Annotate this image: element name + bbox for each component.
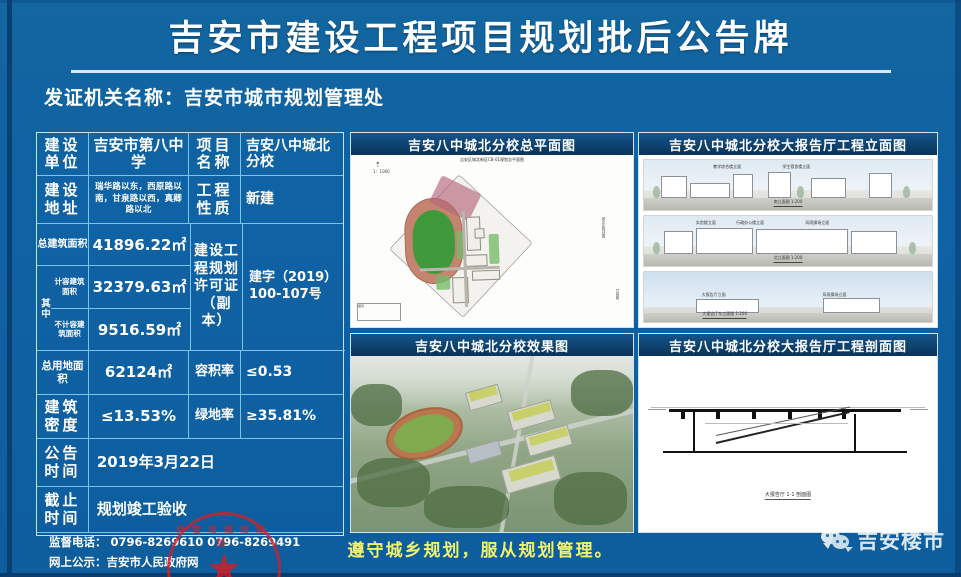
total-area-value: 41896.22㎡ [89, 224, 190, 265]
elevation-caption: 南立面图 1:200 [774, 199, 803, 207]
total-area-row: 总建筑面积 41896.22㎡ [37, 224, 190, 266]
table-row: 建设地址 瑞华路以东，西原路以南，甘泉路以西，真卿路以北 工程性质 新建 [37, 176, 343, 224]
row-label: 截止时间 [37, 487, 89, 532]
tree-icon [909, 242, 916, 254]
road-label-bottom: 甘泉路 [616, 289, 621, 300]
elevation-tag: 风雨操场立面 [805, 220, 829, 226]
announcement-board: 吉安市建设工程项目规划批后公告牌 发证机关名称：吉安市城市规划管理处 建设单位 … [0, 0, 961, 577]
row-label: 建设地址 [37, 176, 89, 223]
sub-area-value: 32379.63㎡ [89, 266, 190, 309]
row-value: 吉安市第八中学 [89, 133, 189, 175]
ceiling-profile [705, 423, 848, 424]
building-volume [690, 183, 730, 198]
panel-title: 吉安八中城北分校大报告厅工程立面图 [639, 133, 937, 155]
sub-area-label: 计容建筑面积 [51, 266, 88, 309]
qizhong-group: 其中 计容建筑面积 不计容建筑面积 [37, 266, 89, 350]
tree-cluster [554, 472, 627, 525]
panel-title: 吉安八中城北分校总平面图 [351, 133, 633, 155]
panel-body: 大报告厅 1-1 剖面图 [639, 356, 937, 532]
row-label: 公告时间 [37, 439, 89, 486]
table-row: 截止时间 规划竣工验收 [37, 487, 343, 533]
row-label-second: 项目名称 [189, 133, 241, 175]
panel-elevation[interactable]: 吉安八中城北分校大报告厅工程立面图 [638, 132, 938, 328]
green-area [436, 275, 450, 289]
permit-cell: 建设工程规划许可证（副本） 建字（2019）100-107号 [191, 224, 345, 350]
tree-icon [653, 242, 660, 254]
elevation-tag: 实验楼立面 [696, 220, 716, 226]
section-drawing: 大报告厅 1-1 剖面图 [639, 356, 937, 532]
tree-icon [653, 186, 660, 198]
elevation-drawing-north: 实验楼立面 行政办公楼立面 风雨操场立面 北立面图 1:200 [643, 215, 933, 267]
qizhong-sub-labels: 计容建筑面积 不计容建筑面积 [51, 266, 88, 350]
board-header: 吉安市建设工程项目规划批后公告牌 发证机关名称：吉安市城市规划管理处 [0, 16, 961, 110]
panel-title: 吉安八中城北分校大报告厅工程剖面图 [639, 334, 937, 356]
dimension-left [648, 409, 666, 410]
panel-body: 教学综合楼立面 学生宿舍楼立面 南立面图 1:200 [639, 155, 937, 327]
gymnasium-volume [465, 440, 502, 465]
page-title: 吉安市建设工程项目规划批后公告牌 [0, 16, 961, 62]
row-label-second: 工程性质 [189, 176, 241, 223]
panel-body: 吉安区城北新区CB-01规划总平面图 ⇡ 1：1000 [351, 155, 633, 327]
row-value: ≤13.53% [89, 395, 189, 438]
building-volume [823, 298, 881, 313]
seating-rake [716, 411, 850, 444]
sports-field [412, 209, 456, 274]
panel-body [351, 356, 633, 532]
tree-cluster [571, 370, 633, 416]
floor-line [663, 451, 907, 453]
panel-section[interactable]: 吉安八中城北分校大报告厅工程剖面图 [638, 333, 938, 533]
watermark-text: 吉安楼市 [857, 525, 945, 555]
sub-area-label: 不计容建筑面积 [51, 309, 88, 351]
permit-label: 建设工程规划许可证（副本） [191, 224, 243, 350]
row-value: 62124㎡ [89, 351, 189, 394]
tree-icon [797, 186, 804, 198]
building-block [465, 254, 487, 267]
frame-top-edge [0, 0, 961, 3]
tree-cluster [357, 458, 430, 507]
panel-title: 吉安八中城北分校效果图 [351, 334, 633, 356]
wechat-icon [821, 529, 851, 551]
row-value-second: 吉安八中城北分校 [241, 133, 343, 175]
permit-number: 建字（2019）100-107号 [243, 224, 345, 350]
legend-box: 图例 [357, 303, 401, 321]
table-row: 公告时间 2019年3月22日 [37, 439, 343, 487]
elevation-tag: 行政办公楼立面 [736, 220, 764, 226]
site-plot [376, 168, 549, 326]
elevation-drawing-south: 教学综合楼立面 学生宿舍楼立面 南立面图 1:200 [643, 159, 933, 211]
building-volume [851, 231, 897, 254]
tree-icon [903, 186, 910, 198]
elevation-tag: 风雨操场立面 [823, 292, 847, 298]
elevation-caption: 大报告厅东立面图 1:200 [702, 311, 747, 319]
building-volume [664, 231, 693, 254]
right-wall [854, 414, 856, 451]
tree-cluster [351, 384, 402, 426]
floor-area-left: 总建筑面积 41896.22㎡ 其中 计容建筑面积 不计容建筑面积 323 [37, 224, 191, 350]
floor-area-block: 总建筑面积 41896.22㎡ 其中 计容建筑面积 不计容建筑面积 323 [37, 224, 345, 351]
column [752, 409, 756, 419]
building-block [474, 228, 484, 238]
site-plan-drawing: 吉安区城北新区CB-01规划总平面图 ⇡ 1：1000 [351, 155, 633, 327]
site-plan-heading: 吉安区城北新区CB-01规划总平面图 [460, 157, 524, 163]
sub-area-values: 32379.63㎡ 9516.59㎡ [89, 266, 190, 350]
building-volume [869, 173, 892, 198]
row-value: 2019年3月22日 [89, 439, 343, 486]
building-volume [696, 228, 754, 254]
elevation-tag: 教学综合楼立面 [713, 164, 741, 170]
elevation-drawings: 教学综合楼立面 学生宿舍楼立面 南立面图 1:200 [643, 159, 933, 323]
table-row: 总用地面积 62124㎡ 容积率 ≤0.53 [37, 351, 343, 395]
column [716, 409, 720, 419]
row-label-second: 绿地率 [189, 395, 241, 438]
slogan-text: 遵守城乡规划，服从规划管理。 [0, 536, 961, 561]
ground-line [644, 313, 932, 322]
building-block [472, 270, 500, 281]
sub-area-value: 9516.59㎡ [89, 309, 190, 351]
row-value-second: ≤0.53 [241, 351, 343, 394]
aerial-rendering [351, 356, 633, 532]
building-volume [661, 176, 687, 198]
qizhong-label: 其中 [37, 266, 51, 350]
panel-site-plan[interactable]: 吉安八中城北分校总平面图 吉安区城北新区CB-01规划总平面图 ⇡ 1：1000 [350, 132, 634, 328]
row-value-second: ≥35.81% [241, 395, 343, 438]
row-value-second: 新建 [241, 176, 343, 223]
elevation-drawing-hall: 大报告厅立面 风雨操场立面 大报告厅东立面图 1:200 [643, 271, 933, 323]
total-area-label: 总建筑面积 [37, 224, 89, 265]
building-volume [811, 178, 846, 198]
row-value: 瑞华路以东，西原路以南，甘泉路以西，真卿路以北 [89, 176, 189, 223]
green-area [489, 234, 500, 264]
board-body: 建设单位 吉安市第八中学 项目名称 吉安八中城北分校 建设地址 瑞华路以东，西原… [0, 130, 961, 535]
elevation-tag: 学生宿舍楼立面 [782, 164, 810, 170]
watermark: 吉安楼市 [821, 525, 945, 555]
table-row: 建筑密度 ≤13.53% 绿地率 ≥35.81% [37, 395, 343, 439]
column [788, 409, 792, 419]
building-volume [756, 229, 848, 254]
roof-beam [669, 409, 901, 412]
row-label: 建筑密度 [37, 395, 89, 438]
project-info-table: 建设单位 吉安市第八中学 项目名称 吉安八中城北分校 建设地址 瑞华路以东，西原… [36, 132, 344, 536]
frame-bottom-edge [0, 573, 961, 577]
row-label: 总用地面积 [37, 351, 89, 394]
row-label-second: 容积率 [189, 351, 241, 394]
title-divider [71, 70, 891, 73]
row-label: 建设单位 [37, 133, 89, 175]
elevation-tag: 大报告厅立面 [702, 292, 726, 298]
road-label-right: 城北区规划路 [602, 217, 607, 238]
building-volume [768, 172, 791, 198]
column [681, 409, 685, 419]
tree-cluster [424, 486, 509, 528]
sub-area-rows: 其中 计容建筑面积 不计容建筑面积 32379.63㎡ 9516.59㎡ [37, 266, 190, 350]
panel-aerial-render[interactable]: 吉安八中城北分校效果图 [350, 333, 634, 533]
dimension-right [910, 409, 928, 410]
elevation-caption: 北立面图 1:200 [774, 255, 803, 263]
section-caption: 大报告厅 1-1 剖面图 [765, 491, 811, 500]
left-wall [693, 409, 695, 451]
drawing-panels: 吉安八中城北分校总平面图 吉安区城北新区CB-01规划总平面图 ⇡ 1：1000 [350, 130, 946, 536]
row-value: 规划竣工验收 [89, 487, 343, 532]
table-row: 建设单位 吉安市第八中学 项目名称 吉安八中城北分校 [37, 133, 343, 176]
north-arrow-icon: ⇡ [375, 161, 381, 169]
issuing-authority: 发证机关名称：吉安市城市规划管理处 [0, 83, 961, 110]
building-volume [733, 174, 753, 198]
